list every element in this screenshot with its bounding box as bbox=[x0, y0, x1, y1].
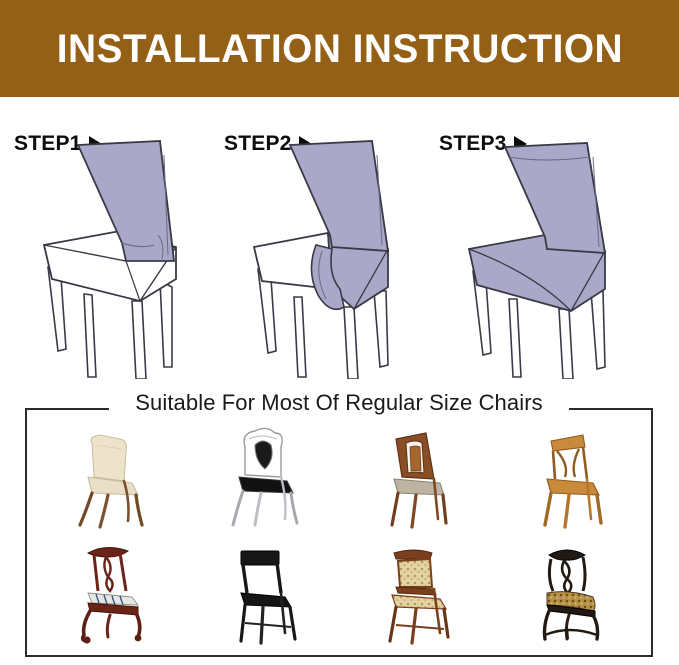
suitable-chairs-box: Suitable For Most Of Regular Size Chairs bbox=[25, 408, 653, 657]
chair-photo-mahogany-chippendale-chair-striped-seat bbox=[33, 536, 186, 650]
chair-photo-black-slat-back-side-chair bbox=[186, 536, 339, 650]
step-2-chair-illustration bbox=[232, 139, 422, 379]
step-2: STEP2 bbox=[210, 97, 436, 387]
chair-photo-oak-wood-seat-chair bbox=[492, 422, 645, 536]
chair-photo-wood-chair-floral-upholstery bbox=[339, 536, 492, 650]
step-1: STEP1 bbox=[0, 97, 226, 387]
step-1-chair-illustration bbox=[22, 139, 212, 379]
steps-row: STEP1 bbox=[0, 97, 679, 387]
chair-photo-cream-upholstered-dining-chair bbox=[33, 422, 186, 536]
box-border-bottom bbox=[25, 655, 653, 657]
chair-photo-silver-baroque-chair-black-seat bbox=[186, 422, 339, 536]
page-title: INSTALLATION INSTRUCTION bbox=[56, 29, 622, 69]
installation-instruction-page: INSTALLATION INSTRUCTION STEP1 bbox=[0, 0, 679, 665]
chair-photo-grid bbox=[33, 422, 645, 650]
box-border-left bbox=[25, 408, 27, 657]
chair-photo-walnut-splat-back-chair bbox=[339, 422, 492, 536]
step-3-chair-illustration bbox=[447, 139, 637, 379]
chair-photo-antique-dark-carved-chair-tapestry-seat bbox=[492, 536, 645, 650]
suitable-section-title: Suitable For Most Of Regular Size Chairs bbox=[25, 390, 653, 416]
header-banner: INSTALLATION INSTRUCTION bbox=[0, 0, 679, 97]
box-border-right bbox=[651, 408, 653, 657]
step-3: STEP3 bbox=[425, 97, 651, 387]
